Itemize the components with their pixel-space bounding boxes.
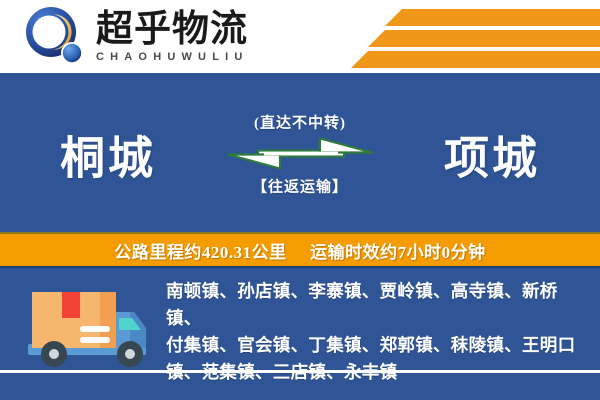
bidirectional-arrow-icon [220,136,380,170]
direct-route-note: (直达不中转) [254,111,346,132]
delivery-truck-icon [22,282,154,374]
logistics-route-banner: 超乎物流 CHAOHUWULIU 桐城 (直达不中转) [0,0,600,400]
duration-text: 运输时效约7小时0分钟 [310,243,486,262]
brand-logo: 超乎物流 CHAOHUWULIU [24,6,249,68]
origin-city: 桐城 [60,121,156,186]
circle-crescent-logo-icon [24,6,86,68]
distance-text: 公路里程约420.31公里 [114,243,286,262]
route-panel: 桐城 (直达不中转) 【往返运输】 项城 [0,73,600,234]
towns-line: 南顿镇、孙店镇、李寨镇、贾岭镇、高寺镇、新桥镇、 [166,278,586,332]
destination-city: 项城 [444,121,540,186]
towns-line: 付集镇、官会镇、丁集镇、郑郭镇、秣陵镇、王明口 [166,332,586,359]
header-stripes-decoration [340,0,600,73]
route-middle-block: (直达不中转) 【往返运输】 [205,111,395,196]
brand-name-en: CHAOHUWULIU [96,51,249,63]
brand-name-cn: 超乎物流 [96,11,249,49]
service-towns-panel: 南顿镇、孙店镇、李寨镇、贾岭镇、高寺镇、新桥镇、 付集镇、官会镇、丁集镇、郑郭镇… [0,268,600,400]
info-bar-text: 公路里程约420.31公里 运输时效约7小时0分钟 [114,238,485,263]
round-trip-note: 【往返运输】 [252,175,348,196]
bottom-divider [0,370,600,373]
route-info-bar: 公路里程约420.31公里 运输时效约7小时0分钟 [0,232,600,268]
banner-header: 超乎物流 CHAOHUWULIU [0,0,600,73]
brand-text: 超乎物流 CHAOHUWULIU [96,11,249,64]
